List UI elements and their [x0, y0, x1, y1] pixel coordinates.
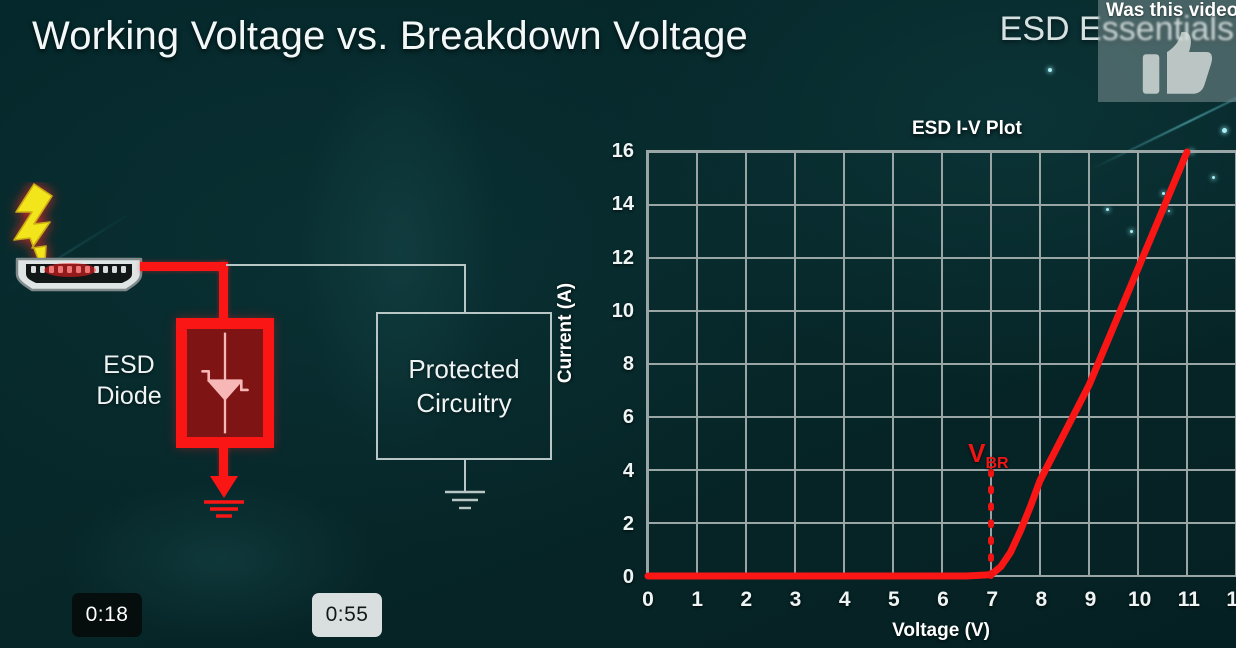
protected-circuitry-label-line2: Circuitry: [408, 386, 519, 420]
chart-x-tick: 1: [677, 588, 717, 612]
wire-red-segment: [219, 262, 228, 324]
chart-y-tick: 0: [582, 566, 634, 589]
chart-y-tick: 10: [582, 300, 634, 323]
ground-icon: [443, 488, 487, 518]
wire-gray-segment: [226, 264, 466, 266]
timestamp-chip-1[interactable]: 0:55: [312, 593, 382, 637]
slide-canvas: Working Voltage vs. Breakdown Voltage ES…: [0, 0, 1236, 648]
feedback-overlay-title: Was this video: [1106, 0, 1236, 22]
breakdown-voltage-label-subscript: BR: [986, 455, 1009, 472]
protected-circuitry-box: Protected Circuitry: [376, 312, 552, 460]
chart-x-tick: 12: [1218, 588, 1236, 612]
ground-icon: [198, 476, 250, 528]
chart-x-tick: 0: [628, 588, 668, 612]
timestamp-chip-0[interactable]: 0:18: [72, 593, 142, 637]
chart-x-tick: 3: [776, 588, 816, 612]
breakdown-voltage-label: VBR: [968, 438, 1008, 473]
chart-x-tick: 11: [1169, 588, 1209, 612]
breakdown-voltage-label-symbol: V: [968, 438, 985, 468]
esd-diode-symbol-box: [176, 318, 274, 448]
hdmi-connector-icon: [14, 256, 144, 294]
wire-red-segment: [140, 262, 228, 271]
chart-y-tick: 12: [582, 247, 634, 270]
chart-x-axis-title: Voltage (V): [646, 620, 1236, 642]
chart-x-tick: 8: [1021, 588, 1061, 612]
background-spark: [1048, 68, 1052, 72]
chart-plot-area: 0246810121416 0123456789101112 VBR: [646, 150, 1236, 576]
chart-y-axis-title: Current (A): [555, 283, 577, 383]
chart-svg: [648, 152, 1236, 576]
chart-y-tick: 14: [582, 193, 634, 216]
chart-x-tick: 5: [874, 588, 914, 612]
chart-x-tick: 4: [825, 588, 865, 612]
esd-diode-label-line2: Diode: [88, 381, 170, 412]
chart-x-tick: 9: [1071, 588, 1111, 612]
wire-gray-segment: [464, 264, 466, 314]
chart-title: ESD I-V Plot: [912, 118, 1022, 140]
chart-y-tick: 2: [582, 513, 634, 536]
chart-x-tick: 2: [726, 588, 766, 612]
chart-gridlines: [648, 152, 1236, 576]
esd-diode-label-line1: ESD: [88, 350, 170, 381]
chart-y-tick: 6: [582, 406, 634, 429]
chart-y-tick: 4: [582, 460, 634, 483]
chart-y-tick: 16: [582, 140, 634, 163]
protected-circuitry-label-line1: Protected: [408, 352, 519, 386]
feedback-overlay[interactable]: Was this video: [1098, 0, 1236, 102]
chart-x-tick: 10: [1120, 588, 1160, 612]
zener-diode-icon: [187, 329, 263, 437]
chart-x-tick: 7: [972, 588, 1012, 612]
chart-y-tick: 8: [582, 353, 634, 376]
esd-diode-label: ESD Diode: [88, 350, 170, 412]
chart-x-tick: 6: [923, 588, 963, 612]
iv-plot: ESD I-V Plot Current (A) Voltage (V) 024…: [580, 110, 1236, 648]
circuit-diagram: ESD Diode Protected Circuitry: [0, 150, 600, 570]
thumbs-up-icon[interactable]: [1142, 30, 1214, 96]
page-title: Working Voltage vs. Breakdown Voltage: [32, 14, 748, 59]
